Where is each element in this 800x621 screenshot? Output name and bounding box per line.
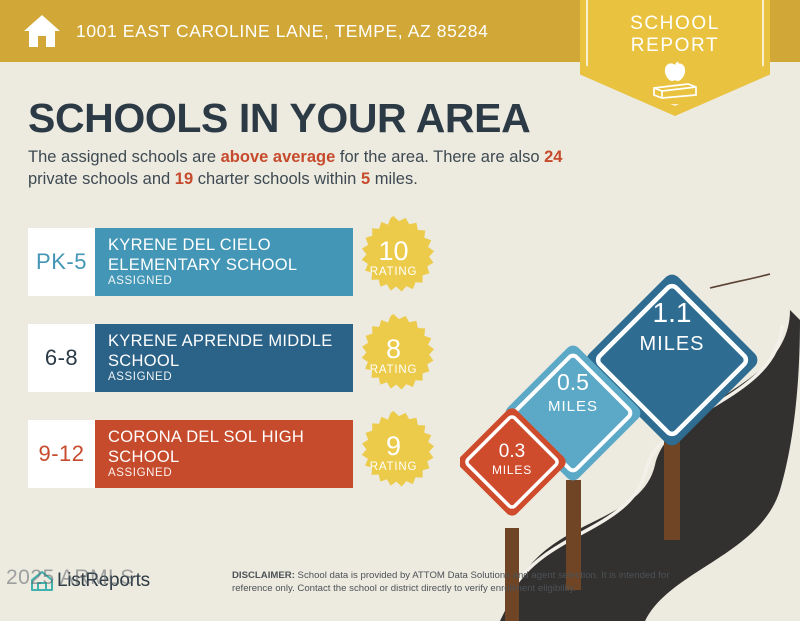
rating-value: 10 xyxy=(378,238,408,265)
school-status: ASSIGNED xyxy=(108,467,172,479)
summary-part-5: miles. xyxy=(370,170,418,188)
summary-text: The assigned schools are above average f… xyxy=(28,146,568,190)
grade-badge: 9-12 xyxy=(28,420,95,488)
distance-unit: MILES xyxy=(639,333,704,355)
book-icon xyxy=(652,83,698,99)
rating-starburst: 10 RATING xyxy=(352,216,435,299)
distance-unit: MILES xyxy=(548,398,598,415)
badge-line-2: REPORT xyxy=(631,35,719,57)
grade-badge: 6-8 xyxy=(28,324,95,392)
school-report-badge: SCHOOL REPORT xyxy=(580,0,770,116)
grade-badge: PK-5 xyxy=(28,228,95,296)
rating-label: RATING xyxy=(370,266,417,278)
school-row[interactable]: PK-5 KYRENE DEL CIELO ELEMENTARY SCHOOL … xyxy=(28,228,353,296)
summary-part-2: for the area. There are also xyxy=(335,148,544,166)
summary-highlight-rating: above average xyxy=(221,148,336,166)
sign-wire xyxy=(710,274,770,288)
home-icon xyxy=(22,12,62,50)
rating-value: 8 xyxy=(386,336,401,363)
badge-line-1: SCHOOL xyxy=(630,13,720,35)
summary-highlight-private-count: 24 xyxy=(544,148,562,166)
rating-label: RATING xyxy=(370,364,417,376)
summary-highlight-charter-count: 19 xyxy=(175,170,193,188)
summary-part-4: charter schools within xyxy=(193,170,361,188)
grade-label: 6-8 xyxy=(45,345,78,371)
summary-part-1: The assigned schools are xyxy=(28,148,221,166)
grade-label: PK-5 xyxy=(36,249,87,275)
rating-value: 9 xyxy=(386,433,401,460)
school-bar: CORONA DEL SOL HIGH SCHOOL ASSIGNED xyxy=(95,420,353,488)
school-report-infographic: 1001 EAST CAROLINE LANE, TEMPE, AZ 85284… xyxy=(0,0,800,621)
distance-value: 0.5 xyxy=(557,369,589,395)
summary-part-3: private schools and xyxy=(28,170,175,188)
rating-starburst: 8 RATING xyxy=(352,314,435,397)
distance-value: 1.1 xyxy=(653,297,692,328)
school-name: CORONA DEL SOL HIGH SCHOOL xyxy=(108,428,350,467)
mls-watermark: 2025 ARMLS xyxy=(6,566,135,590)
school-name: KYRENE DEL CIELO ELEMENTARY SCHOOL xyxy=(108,236,350,275)
grade-label: 9-12 xyxy=(38,441,84,467)
apple-icon xyxy=(662,61,688,83)
rating-starburst: 9 RATING xyxy=(352,411,435,494)
school-row[interactable]: 6-8 KYRENE APRENDE MIDDLE SCHOOL ASSIGNE… xyxy=(28,324,353,392)
summary-highlight-radius: 5 xyxy=(361,170,370,188)
disclaimer-text: School data is provided by ATTOM Data So… xyxy=(232,570,669,594)
rating-label: RATING xyxy=(370,461,417,473)
disclaimer: DISCLAIMER: School data is provided by A… xyxy=(232,570,702,595)
distance-unit: MILES xyxy=(492,463,532,477)
school-status: ASSIGNED xyxy=(108,275,172,287)
page-title: SCHOOLS IN YOUR AREA xyxy=(28,95,530,141)
school-bar: KYRENE APRENDE MIDDLE SCHOOL ASSIGNED xyxy=(95,324,353,392)
property-address: 1001 EAST CAROLINE LANE, TEMPE, AZ 85284 xyxy=(76,21,488,42)
distance-value: 0.3 xyxy=(499,441,525,462)
sign-post xyxy=(664,430,680,540)
disclaimer-label: DISCLAIMER: xyxy=(232,570,295,581)
school-bar: KYRENE DEL CIELO ELEMENTARY SCHOOL ASSIG… xyxy=(95,228,353,296)
school-name: KYRENE APRENDE MIDDLE SCHOOL xyxy=(108,332,350,371)
school-row[interactable]: 9-12 CORONA DEL SOL HIGH SCHOOL ASSIGNED xyxy=(28,420,353,488)
distance-illustration: 1.1 MILES 0.5 MILES 0.3 MILES xyxy=(460,250,800,621)
school-status: ASSIGNED xyxy=(108,371,172,383)
